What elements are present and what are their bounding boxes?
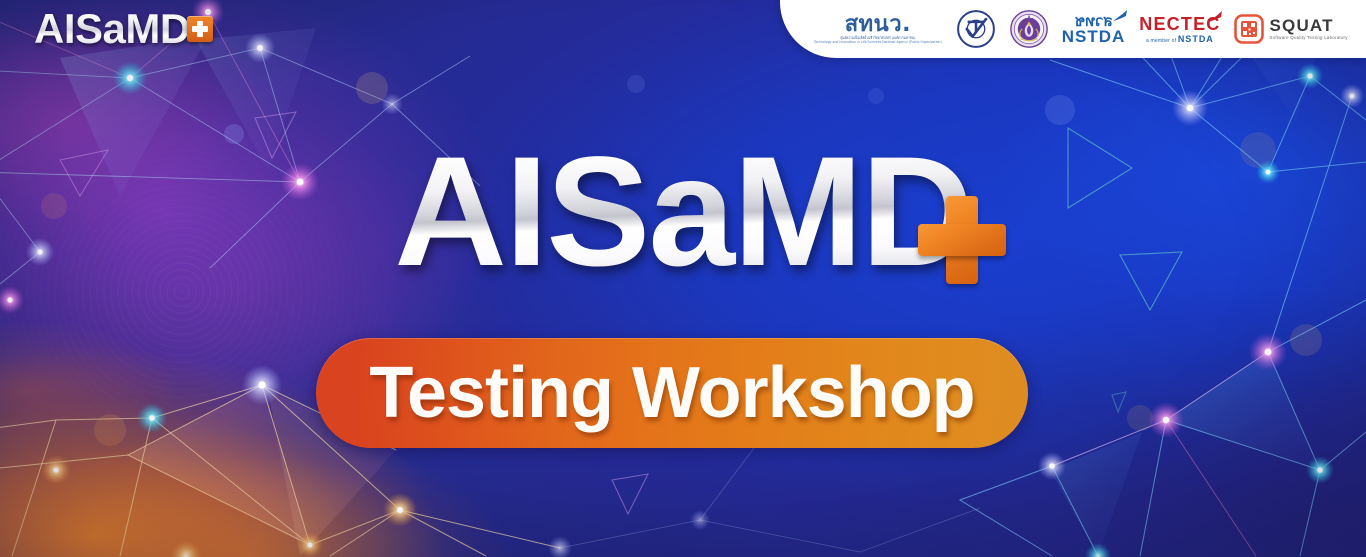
nectec-swoosh-icon bbox=[1207, 10, 1223, 24]
nectec-logo: NECTEC a member of NSTDA bbox=[1139, 6, 1220, 52]
medical-plus-icon bbox=[187, 16, 213, 42]
partner-logo-bar: สทนว. ศูนย์ความเป็นเลิศด้านชีววิทยาศาสตร… bbox=[780, 0, 1366, 58]
background-right-blue-glow bbox=[0, 0, 1366, 557]
aisamd-banner: AISaMD สทนว. ศูนย์ความเป็นเลิศด้านชีววิท… bbox=[0, 0, 1366, 557]
background-orange-glow bbox=[0, 0, 1366, 557]
royal-emblem-icon bbox=[1010, 10, 1048, 48]
hero-medical-plus-icon bbox=[918, 196, 1006, 284]
tcels-logo: สทนว. ศูนย์ความเป็นเลิศด้านชีววิทยาศาสตร… bbox=[814, 6, 942, 52]
background-base-gradient bbox=[0, 0, 1366, 557]
hero-subtitle-pill: Testing Workshop bbox=[316, 338, 1028, 448]
nectec-member-prefix: a member of bbox=[1146, 38, 1176, 44]
hero-subtitle-text: Testing Workshop bbox=[369, 357, 974, 429]
nectec-member-line: a member of NSTDA bbox=[1146, 35, 1214, 44]
tcels-thai-wordmark: สทนว. bbox=[845, 14, 911, 36]
nstda-swoosh-icon bbox=[1112, 9, 1128, 23]
brand-mark-logo: AISaMD bbox=[34, 8, 213, 50]
tis-certification-mark-icon bbox=[956, 9, 996, 49]
squat-tagline: Software Quality Testing Laboratory bbox=[1269, 36, 1347, 40]
nectec-member-parent: NSTDA bbox=[1178, 34, 1214, 44]
background-network-graphic bbox=[0, 0, 1366, 557]
tcels-english-subtitle: Technology and Innovation in Life Scienc… bbox=[814, 41, 942, 45]
nstda-logo: สวทช NSTDA bbox=[1062, 6, 1126, 52]
background-ripple-texture bbox=[0, 100, 546, 557]
background-vignette bbox=[0, 0, 1366, 557]
royal-emblem-logo bbox=[1010, 6, 1048, 52]
hero-content: AISaMD Testing Workshop bbox=[0, 0, 1366, 557]
brand-mark-text: AISaMD bbox=[34, 8, 190, 50]
nstda-english-wordmark: NSTDA bbox=[1062, 28, 1126, 45]
squat-wordmark: SQUAT bbox=[1269, 17, 1347, 34]
background-purple-nebula bbox=[0, 0, 1366, 557]
tis-certification-mark bbox=[956, 6, 996, 52]
nstda-thai-wordmark: สวทช bbox=[1075, 14, 1113, 29]
squat-qr-icon bbox=[1234, 14, 1264, 44]
hero-title: AISaMD bbox=[0, 134, 1366, 290]
squat-logo: SQUAT Software Quality Testing Laborator… bbox=[1234, 6, 1347, 52]
hero-title-text: AISaMD bbox=[394, 134, 971, 290]
